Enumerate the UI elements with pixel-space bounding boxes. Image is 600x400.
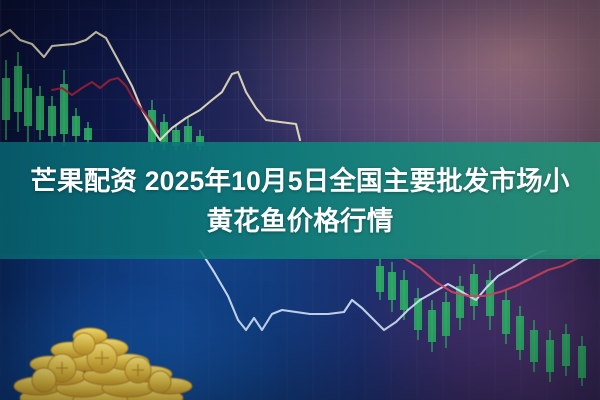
title-line-1: 芒果配资 2025年10月5日全国主要批发市场小 — [30, 166, 569, 196]
title-band: 芒果配资 2025年10月5日全国主要批发市场小 黄花鱼价格行情 — [0, 142, 600, 259]
title-line-2: 黄花鱼价格行情 — [20, 201, 580, 241]
banner-image: 芒果配资 2025年10月5日全国主要批发市场小 黄花鱼价格行情 — [0, 0, 600, 400]
page-title: 芒果配资 2025年10月5日全国主要批发市场小 黄花鱼价格行情 — [20, 161, 580, 241]
